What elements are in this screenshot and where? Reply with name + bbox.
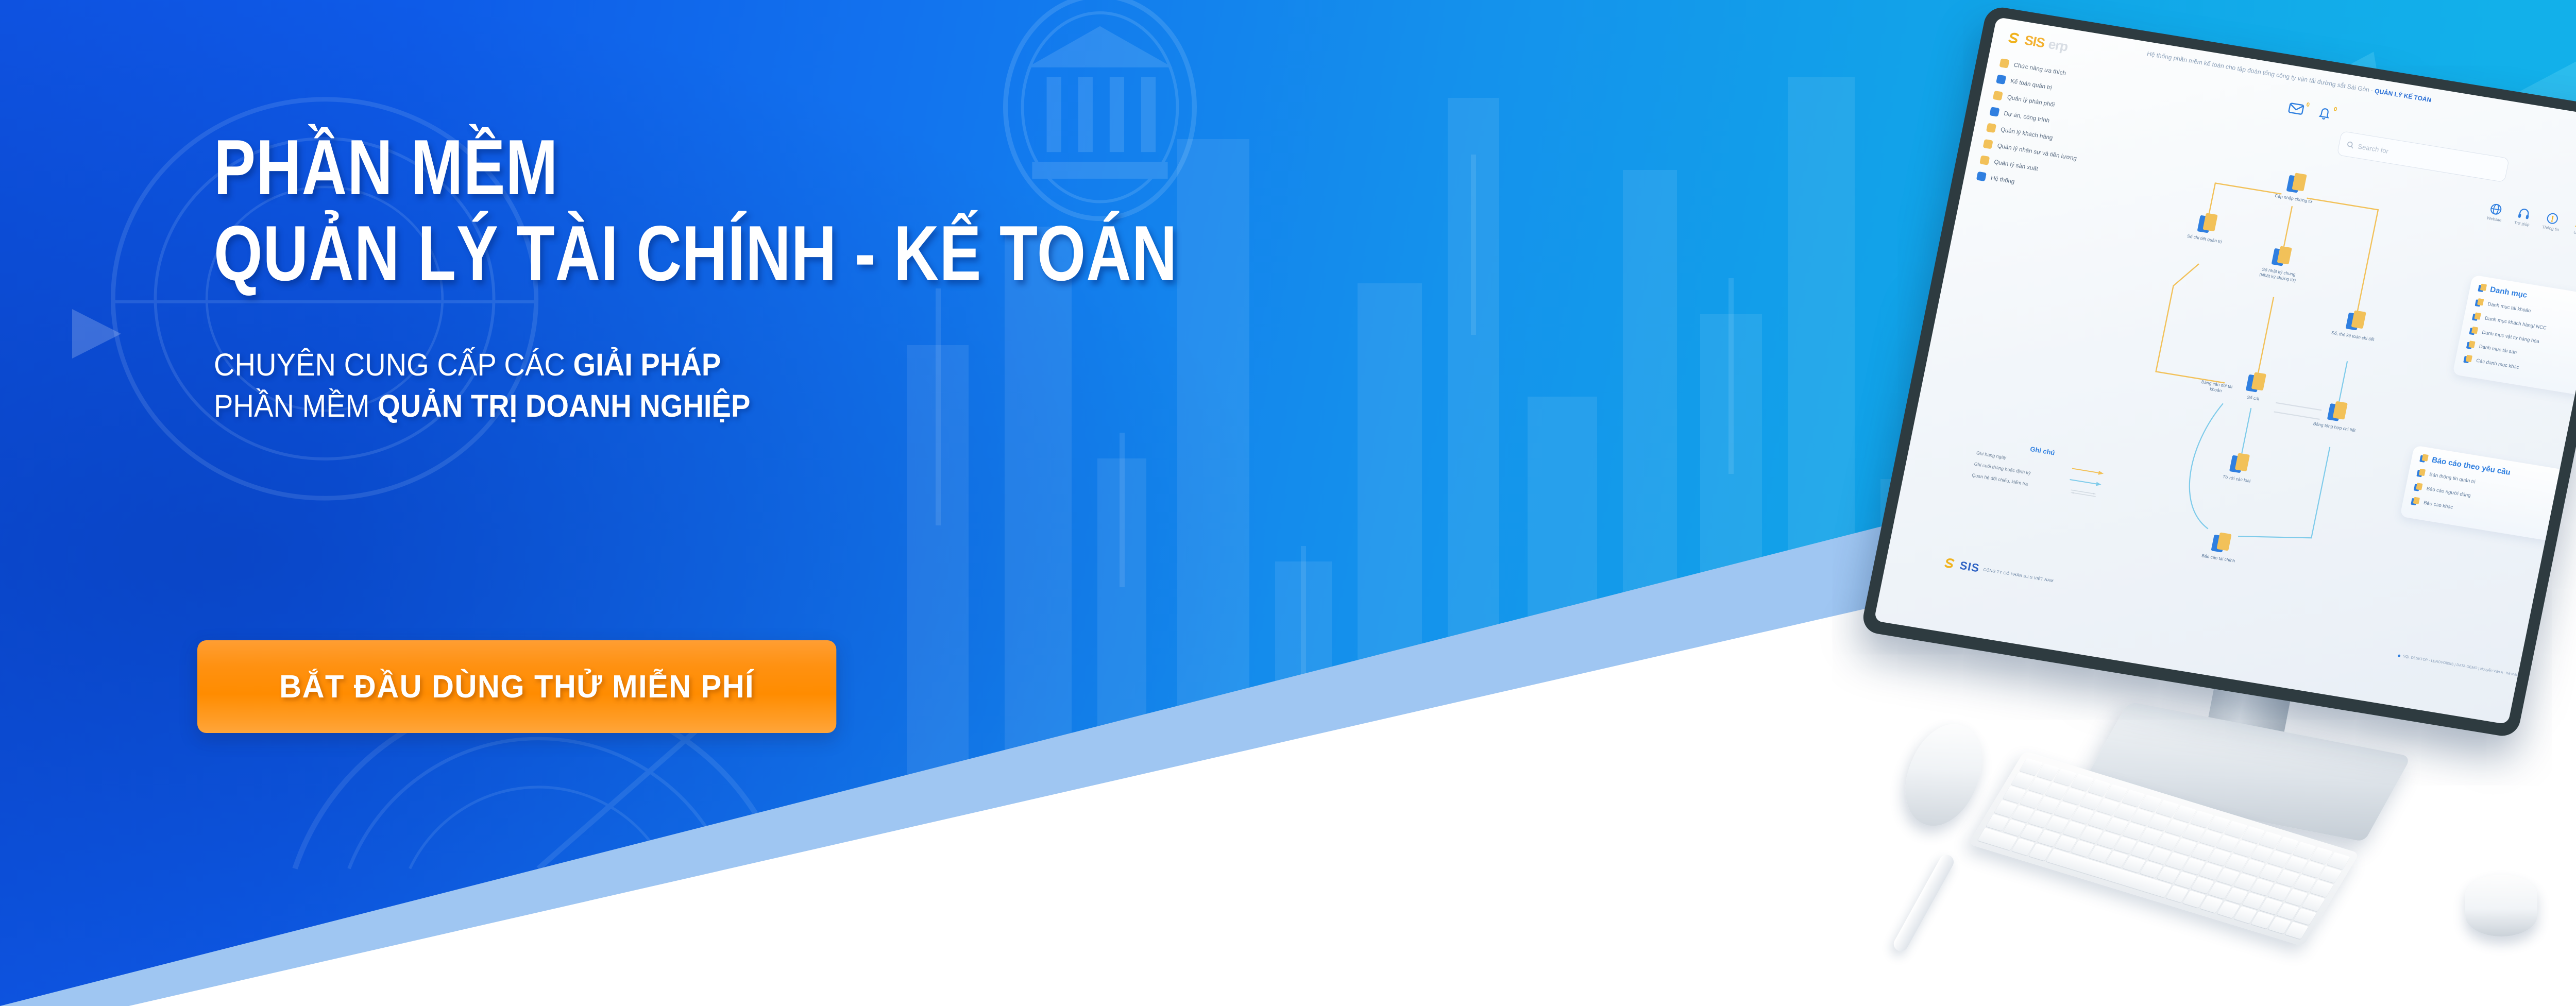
search-icon — [2346, 141, 2355, 149]
subtitle-line-1: CHUYÊN CUNG CẤP CÁC GIẢI PHÁP — [214, 345, 1304, 385]
search-placeholder-text: Search for — [2357, 142, 2389, 155]
sidebar: Chức năng ưa thích Kế toán quản trị Quản… — [1975, 58, 2128, 208]
document-icon — [2327, 400, 2348, 423]
mouse — [1892, 713, 1996, 837]
tool-label: Website — [2486, 216, 2502, 223]
info-button[interactable]: Thông tin — [2541, 211, 2562, 232]
bell-button[interactable]: 0 — [2316, 106, 2332, 123]
folder-icon — [2469, 326, 2478, 336]
bell-icon — [2316, 106, 2332, 122]
desk-scene: SIS erp Hệ thống phần mềm kế toán cho tậ… — [1747, 62, 2576, 1006]
document-icon — [2229, 452, 2251, 475]
report-item-label: Báo cáo người dùng — [2426, 486, 2471, 499]
mail-badge: 0 — [2306, 101, 2310, 108]
info-icon — [2545, 212, 2560, 226]
brand-sis-text: SIS — [1958, 559, 1980, 575]
tool-label: User — [2573, 230, 2576, 236]
mail-icon — [2287, 101, 2305, 116]
status-bar-text: SQL DESKTOP - LENOVO\\SIS | DATA-DEMO | … — [2402, 655, 2518, 677]
report-item-label: Bản thông tin quản trị — [2429, 472, 2476, 485]
monitor-bezel: SIS erp Hệ thống phần mềm kế toán cho tậ… — [1860, 5, 2576, 739]
bell-badge: 0 — [2333, 106, 2337, 113]
company-brand: SIS CÔNG TY CỔ PHẦN S.I.S VIỆT NAM — [1942, 556, 2055, 587]
brand-company-text: CÔNG TY CỔ PHẦN S.I.S VIỆT NAM — [1983, 567, 2054, 583]
document-icon — [2245, 371, 2267, 395]
subtitle-2-bold: QUẢN TRỊ DOANH NGHIỆP — [378, 388, 750, 423]
globe-icon — [2489, 202, 2503, 216]
user-button[interactable]: User — [2571, 216, 2576, 236]
free-trial-button[interactable]: BẮT ĐẦU DÙNG THỬ MIỄN PHÍ — [197, 640, 836, 733]
sidebar-label: Quản lý phân phối — [2007, 94, 2056, 108]
folder-icon — [2416, 468, 2426, 478]
system-icon — [1976, 172, 1987, 181]
catalog-item-label: Danh mục vật tư hàng hóa — [2481, 330, 2539, 345]
document-icon — [2271, 245, 2293, 268]
subtitle: CHUYÊN CUNG CẤP CÁC GIẢI PHÁP PHẦN MỀM Q… — [214, 345, 1304, 427]
accounting-flow-diagram: Cập nhập chứng từ Sổ chi tiết quản trị S… — [2054, 145, 2469, 643]
arrow-double-gray-icon — [2067, 489, 2099, 498]
search-input[interactable]: Search for — [2336, 131, 2509, 182]
breadcrumb-active: QUẢN LÝ KẾ TOÁN — [2374, 87, 2432, 104]
user-icon — [2572, 216, 2576, 230]
folder-icon — [2478, 283, 2487, 293]
distribution-icon — [1993, 91, 2003, 100]
catalog-item-label: Các danh mục khác — [2476, 358, 2519, 370]
folder-icon — [2411, 497, 2420, 506]
flow-node[interactable]: Sổ nhật ký chung (Nhật ký chứng từ) — [2255, 243, 2306, 284]
monitor: SIS erp Hệ thống phần mềm kế toán cho tậ… — [1860, 5, 2576, 739]
website-button[interactable]: Website — [2486, 202, 2505, 223]
sis-logo-icon — [1942, 557, 1957, 571]
subtitle-1-thin: CHUYÊN CUNG CẤP CÁC — [214, 347, 573, 382]
catalog-item-label: Danh mục tài sản — [2479, 344, 2517, 355]
sis-logo-icon — [2006, 30, 2022, 46]
production-icon — [1979, 155, 1990, 165]
customers-icon — [1986, 123, 1996, 133]
legend-label: Ghi hàng ngày — [1976, 450, 2007, 460]
reports-panel: Báo cáo theo yêu cầu Bản thông tin quản … — [2400, 445, 2567, 541]
folder-icon — [2472, 312, 2481, 322]
hero-copy: PHẦN MỀM QUẢN LÝ TÀI CHÍNH - KẾ TOÁN CHU… — [214, 126, 1399, 427]
project-icon — [1989, 107, 1999, 116]
sidebar-label: Chức năng ưa thích — [2013, 62, 2066, 76]
erp-app: SIS erp Hệ thống phần mềm kế toán cho tậ… — [1874, 17, 2576, 724]
report-icon — [2211, 532, 2232, 555]
catalog-title-text: Danh mục — [2489, 285, 2528, 300]
monitor-screen: SIS erp Hệ thống phần mềm kế toán cho tậ… — [1874, 17, 2576, 724]
logo-erp-text: erp — [2047, 36, 2069, 55]
logo-sis-text: SIS — [2023, 32, 2046, 52]
sidebar-label: Quản lý nhân sự và tiền lương — [1997, 143, 2077, 162]
folder-icon — [2463, 354, 2472, 364]
status-bar: SQL DESKTOP - LENOVO\\SIS | DATA-DEMO | … — [2397, 654, 2518, 677]
help-button[interactable]: Trợ giúp — [2514, 207, 2533, 227]
folder-icon — [2466, 340, 2476, 350]
toolbar: Website Trợ giúp — [2486, 202, 2576, 236]
arrow-blue-icon — [2070, 478, 2102, 487]
sidebar-label: Quản lý sản xuất — [1993, 159, 2039, 172]
page-title: PHẦN MỀM QUẢN LÝ TÀI CHÍNH - KẾ TOÁN — [214, 126, 1162, 295]
document-icon — [2197, 212, 2218, 235]
app-logo[interactable]: SIS erp — [2006, 29, 2069, 55]
catalog-item-label: Danh mục tài khoản — [2487, 301, 2532, 314]
stylus — [1891, 852, 1956, 953]
speaker-puck — [2465, 875, 2537, 936]
title-line-1: PHẦN MỀM — [214, 126, 1162, 209]
document-icon — [2286, 172, 2308, 195]
status-dot — [2398, 654, 2401, 657]
legend-label: Quan hệ đối chiếu, kiểm tra — [1971, 472, 2028, 487]
catalog-item-label: Danh mục khách hàng/ NCC — [2484, 316, 2547, 331]
sidebar-label: Dự án, công trình — [2003, 110, 2050, 124]
legend-label: Ghi cuối tháng hoặc định kỳ — [1974, 462, 2031, 476]
tool-label: Trợ giúp — [2514, 220, 2530, 227]
subtitle-line-2: PHẦN MỀM QUẢN TRỊ DOANH NGHIỆP — [214, 386, 1304, 427]
ledger-icon — [1996, 75, 2006, 84]
folder-icon — [2475, 298, 2484, 308]
sidebar-label: Hệ thống — [1990, 175, 2015, 185]
folder-icon — [2419, 454, 2429, 464]
report-item-label: Báo cáo khác — [2423, 500, 2453, 510]
notification-icons: 0 0 — [2287, 101, 2333, 123]
headset-icon — [2516, 207, 2531, 220]
subtitle-1-bold: GIẢI PHÁP — [573, 347, 721, 382]
sidebar-label: Quản lý khách hàng — [2000, 126, 2053, 141]
star-icon — [1999, 58, 2009, 68]
folder-icon — [2413, 482, 2422, 492]
sidebar-label: Kế toán quản trị — [2010, 78, 2053, 91]
tool-label: Thông tin — [2541, 225, 2560, 232]
mail-button[interactable]: 0 — [2287, 101, 2305, 117]
arrow-yellow-icon — [2072, 467, 2104, 476]
catalog-panel: Danh mục Danh mục tài khoản Danh mục khá… — [2452, 275, 2576, 398]
document-icon — [2345, 310, 2367, 333]
hero-banner: PHẦN MỀM QUẢN LÝ TÀI CHÍNH - KẾ TOÁN CHU… — [0, 0, 2576, 1006]
title-line-2: QUẢN LÝ TÀI CHÍNH - KẾ TOÁN — [214, 212, 1162, 295]
subtitle-2-thin: PHẦN MỀM — [214, 388, 378, 423]
hr-icon — [1983, 139, 1993, 149]
